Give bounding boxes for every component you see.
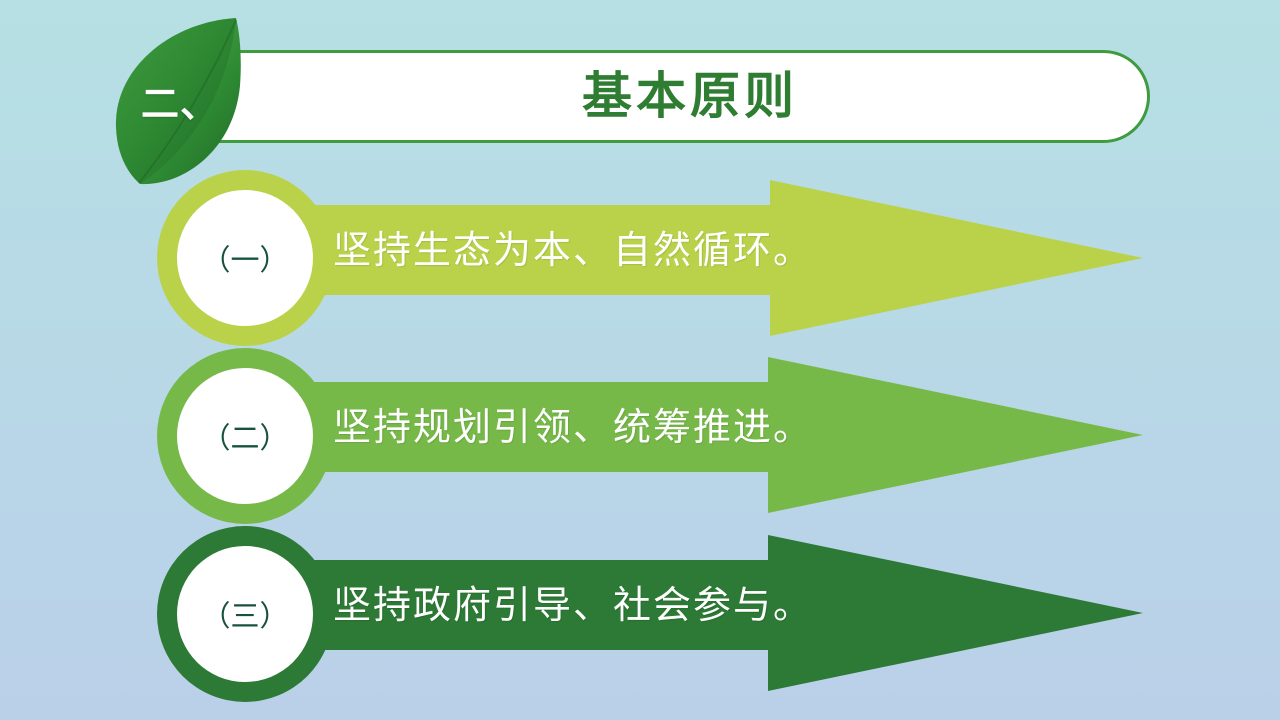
page-title: 基本原则 [240,55,1140,138]
principle-row-2: （二） 坚持规划引领、统筹推进。 [0,347,1280,527]
principle-circle-1: （一） [157,170,333,346]
principle-text-2: 坚持规划引领、统筹推进。 [333,382,813,472]
principle-row-1: （一） 坚持生态为本、自然循环。 [0,170,1280,350]
principle-circle-inner-3: （三） [177,546,313,682]
principle-circle-2: （二） [157,348,333,524]
principle-number-3: （三） [201,593,288,635]
principle-circle-3: （三） [157,526,333,702]
principle-text-3: 坚持政府引导、社会参与。 [333,560,813,650]
principle-number-1: （一） [201,237,288,279]
principle-circle-inner-1: （一） [177,190,313,326]
principle-text-1: 坚持生态为本、自然循环。 [333,205,813,295]
section-number-label: 二、 [112,14,242,186]
principle-number-2: （二） [201,415,288,457]
principle-row-3: （三） 坚持政府引导、社会参与。 [0,525,1280,705]
slide-canvas: 基本原则 二、 [0,0,1280,720]
principle-circle-inner-2: （二） [177,368,313,504]
